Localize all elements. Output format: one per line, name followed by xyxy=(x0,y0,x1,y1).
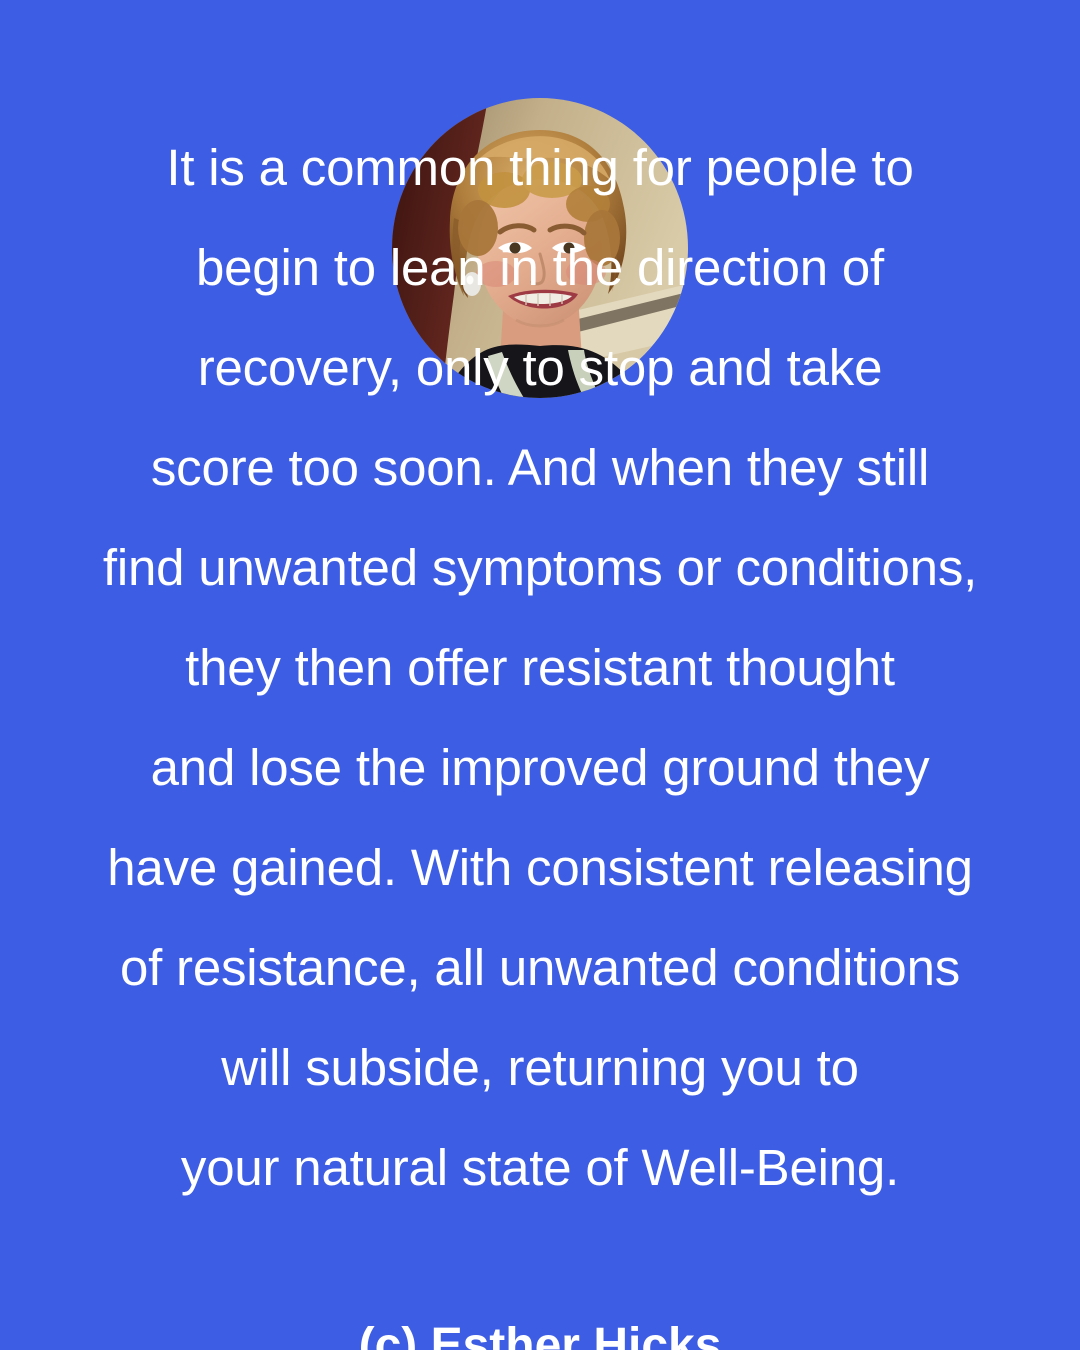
quote-line: of resistance, all unwanted conditions xyxy=(0,918,1080,1018)
quote-line: It is a common thing for people to xyxy=(0,118,1080,218)
quote-line: begin to lean in the direction of xyxy=(0,218,1080,318)
quote-line: will subside, returning you to xyxy=(0,1018,1080,1118)
attribution: (c) Esther Hicks xyxy=(0,1318,1080,1350)
quote-line: they then offer resistant thought xyxy=(0,618,1080,718)
quote-line: score too soon. And when they still xyxy=(0,418,1080,518)
quote-line: and lose the improved ground they xyxy=(0,718,1080,818)
attribution-text: (c) Esther Hicks xyxy=(359,1319,722,1350)
quote-card: It is a common thing for people to begin… xyxy=(0,0,1080,1350)
quote-line: have gained. With consistent releasing xyxy=(0,818,1080,918)
quote-text: It is a common thing for people to begin… xyxy=(0,0,1080,1218)
quote-line: find unwanted symptoms or conditions, xyxy=(0,518,1080,618)
quote-line: recovery, only to stop and take xyxy=(0,318,1080,418)
quote-line: your natural state of Well-Being. xyxy=(0,1118,1080,1218)
